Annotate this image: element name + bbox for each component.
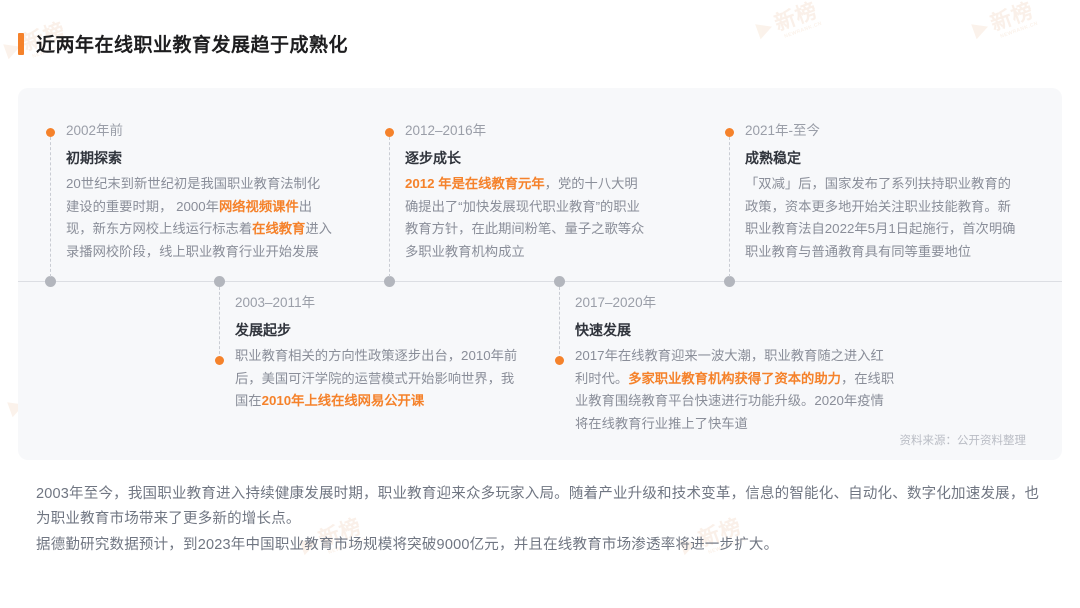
timeline-connector-line (559, 287, 560, 359)
timeline-heading: 成熟稳定 (745, 147, 1023, 169)
footer-summary: 2003年至今，我国职业教育进入持续健康发展时期，职业教育迎来众多玩家入局。随着… (36, 482, 1048, 558)
timeline-year: 2012–2016年 (405, 121, 650, 141)
timeline-description: 职业教育相关的方向性政策逐步出台，2010年前后，美国可汗学院的运营模式开始影响… (235, 345, 521, 414)
timeline-year: 2002年前 (66, 121, 332, 141)
timeline-axis-dot (554, 276, 565, 287)
source-note: 资料来源：公开资料整理 (900, 432, 1027, 448)
timeline-marker-dot (725, 128, 734, 137)
timeline-heading: 初期探索 (66, 147, 332, 169)
watermark-text: 新榜 (772, 0, 821, 36)
watermark-subtext: NEWRANK.CN (762, 21, 823, 48)
timeline-year: 2021年-至今 (745, 121, 1023, 141)
footer-paragraph-1: 2003年至今，我国职业教育进入持续健康发展时期，职业教育迎来众多玩家入局。随着… (36, 482, 1048, 533)
timeline-connector-line (50, 137, 51, 277)
title-accent-bar (18, 33, 24, 55)
slide-root: 新榜NEWRANK.CN 新榜NEWRANK.CN 新榜NEWRANK.CN 新… (0, 0, 1080, 608)
timeline-axis-dot (45, 276, 56, 287)
timeline-panel: 2002年前 初期探索 20世纪末到新世纪初是我国职业教育法制化建设的重要时期，… (18, 88, 1062, 460)
watermark-triangle-icon (971, 20, 991, 40)
timeline-description: 2012 年是在线教育元年，党的十八大明确提出了“加快发展现代职业教育”的职业教… (405, 173, 650, 264)
watermark-subtext: NEWRANK.CN (978, 21, 1039, 48)
timeline-marker-dot (555, 356, 564, 365)
watermark-text: 新榜 (988, 0, 1037, 36)
timeline-year: 2017–2020年 (575, 293, 895, 313)
timeline-axis (18, 281, 1062, 282)
timeline-description: 2017年在线教育迎来一波大潮，职业教育随之进入红利时代。多家职业教育机构获得了… (575, 345, 895, 436)
timeline-marker-dot (385, 128, 394, 137)
timeline-axis-dot (384, 276, 395, 287)
watermark-logo: 新榜NEWRANK.CN (752, 0, 823, 48)
page-title: 近两年在线职业教育发展趋于成熟化 (18, 30, 348, 57)
page-title-text: 近两年在线职业教育发展趋于成熟化 (36, 30, 348, 57)
watermark-triangle-icon (755, 20, 775, 40)
timeline-marker-dot (215, 356, 224, 365)
timeline-year: 2003–2011年 (235, 293, 521, 313)
timeline-description: 「双减」后，国家发布了系列扶持职业教育的政策，资本更多地开始关注职业技能教育。新… (745, 173, 1023, 264)
timeline-connector-line (219, 287, 220, 359)
timeline-heading: 快速发展 (575, 319, 895, 341)
timeline-heading: 逐步成长 (405, 147, 650, 169)
timeline-connector-line (389, 137, 390, 277)
watermark-logo: 新榜NEWRANK.CN (968, 0, 1039, 48)
timeline-heading: 发展起步 (235, 319, 521, 341)
footer-paragraph-2: 据德勤研究数据预计，到2023年中国职业教育市场规模将突破9000亿元，并且在线… (36, 533, 1048, 558)
timeline-axis-dot (724, 276, 735, 287)
timeline-marker-dot (46, 128, 55, 137)
timeline-description: 20世纪末到新世纪初是我国职业教育法制化建设的重要时期， 2000年网络视频课件… (66, 173, 332, 264)
timeline-axis-dot (214, 276, 225, 287)
timeline-connector-line (729, 137, 730, 277)
